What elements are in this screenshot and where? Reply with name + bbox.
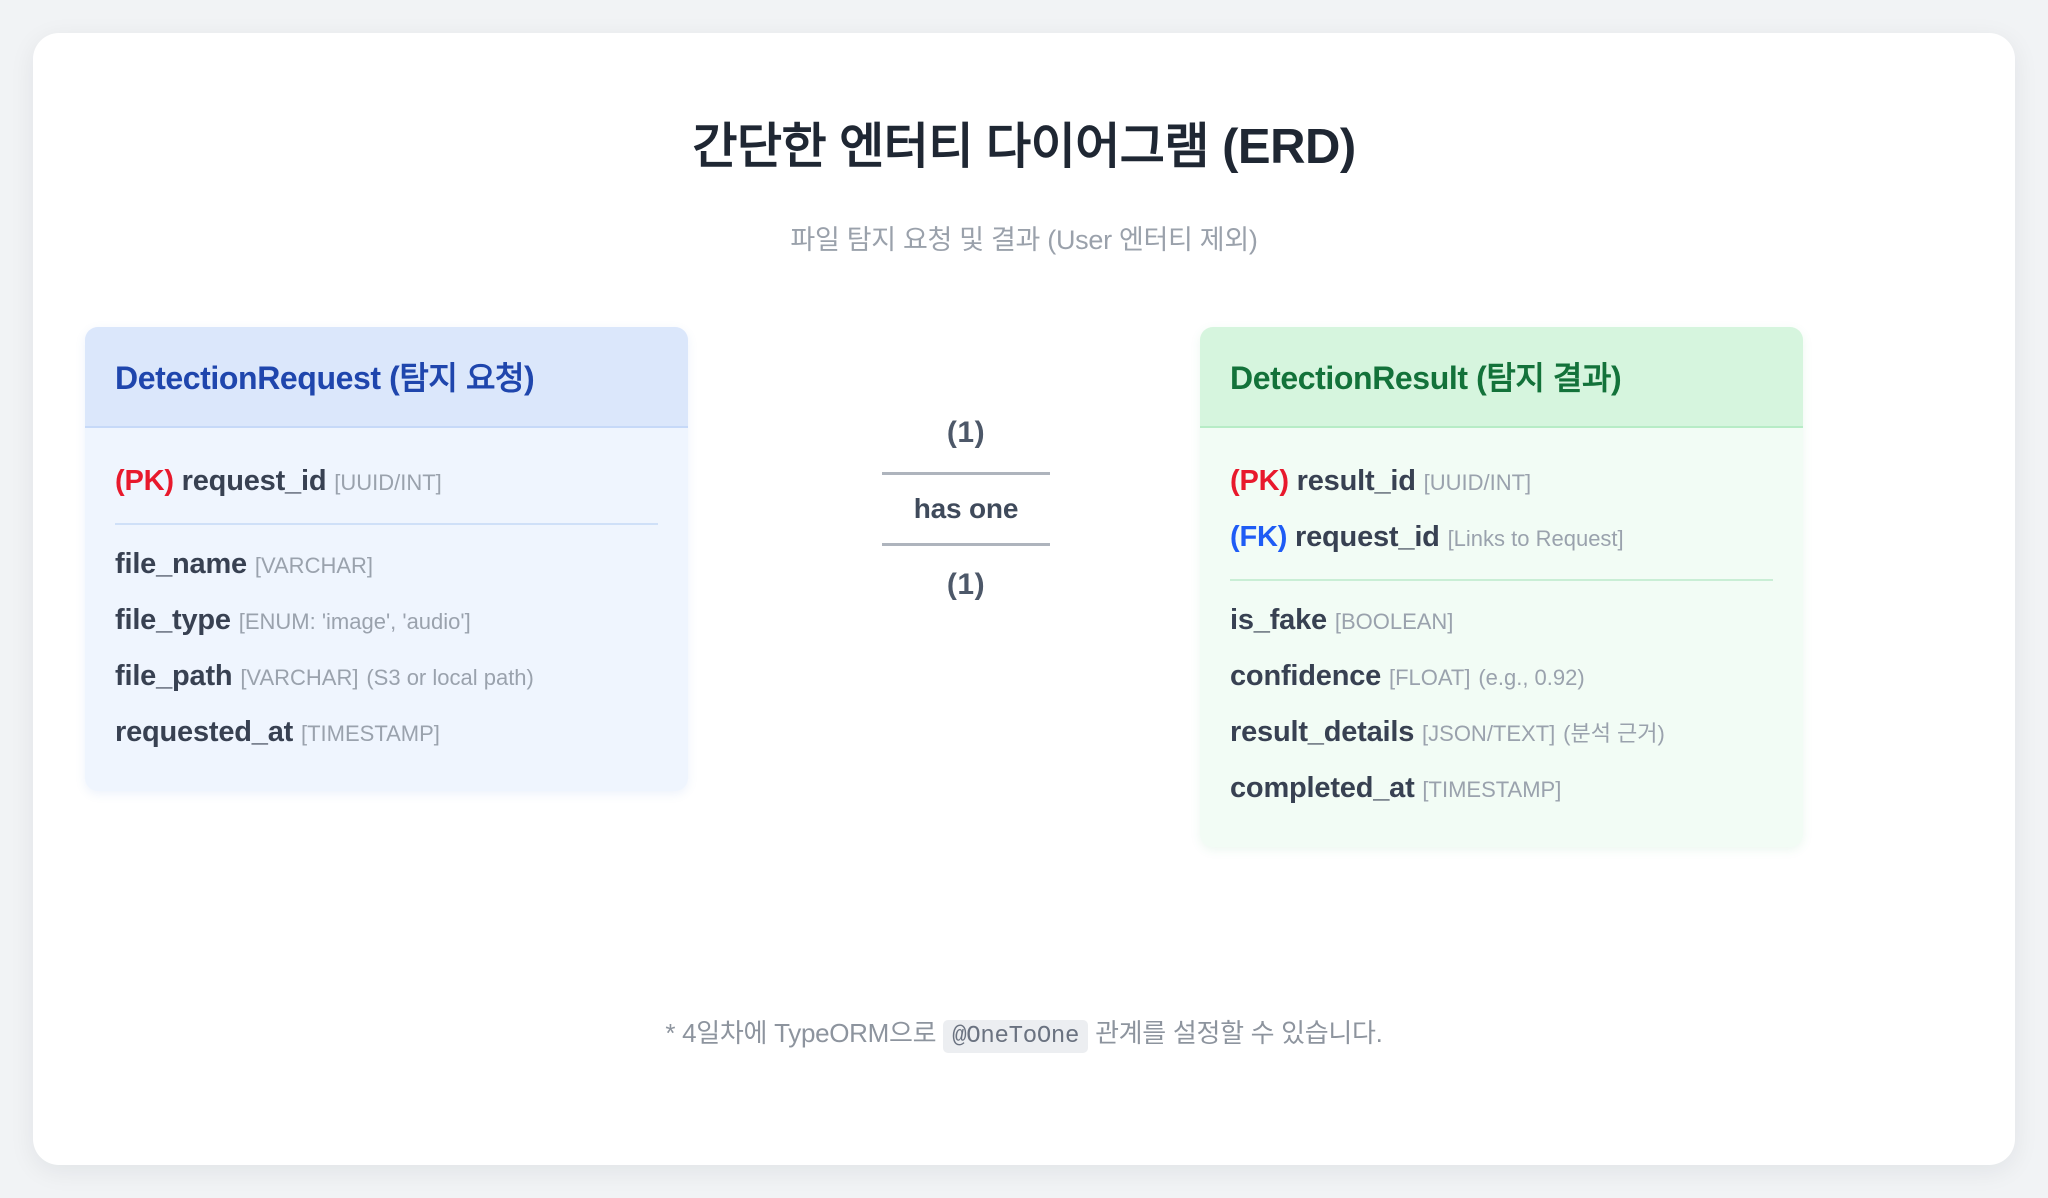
field-name: file_type bbox=[115, 604, 231, 636]
pk-badge: (PK) bbox=[1230, 465, 1289, 497]
field-row: file_name [VARCHAR] bbox=[115, 537, 658, 593]
relationship-label: has one bbox=[882, 493, 1050, 525]
entity-header-detection-request: DetectionRequest (탐지 요청) bbox=[85, 327, 688, 428]
field-name: is_fake bbox=[1230, 604, 1327, 636]
field-row: requested_at [TIMESTAMP] bbox=[115, 705, 658, 761]
entity-header-detection-result: DetectionResult (탐지 결과) bbox=[1200, 327, 1803, 428]
field-type: [BOOLEAN] bbox=[1335, 609, 1454, 634]
footnote-text-before: * 4일차에 TypeORM으로 bbox=[665, 1018, 936, 1048]
field-note: (S3 or local path) bbox=[366, 665, 534, 690]
field-name: requested_at bbox=[115, 716, 293, 748]
field-row: confidence [FLOAT] (e.g., 0.92) bbox=[1230, 649, 1773, 705]
entity-fields-detection-request: (PK) request_id [UUID/INT] file_name [VA… bbox=[85, 428, 688, 791]
field-type: [ENUM: 'image', 'audio'] bbox=[239, 609, 471, 634]
field-type: [TIMESTAMP] bbox=[301, 721, 440, 746]
field-name: request_id bbox=[182, 465, 327, 497]
pk-badge: (PK) bbox=[115, 465, 174, 497]
field-name: confidence bbox=[1230, 660, 1381, 692]
field-row: completed_at [TIMESTAMP] bbox=[1230, 761, 1773, 817]
erd-diagram: DetectionRequest (탐지 요청) (PK) request_id… bbox=[33, 327, 2015, 927]
footnote: * 4일차에 TypeORM으로 @OneToOne 관계를 설정할 수 있습니… bbox=[33, 1013, 2015, 1050]
relationship-line-top bbox=[882, 472, 1050, 475]
field-type: [UUID/INT] bbox=[1424, 470, 1532, 495]
field-name: result_id bbox=[1297, 465, 1416, 497]
field-row: (FK) request_id [Links to Request] bbox=[1230, 510, 1773, 566]
field-type: [JSON/TEXT] bbox=[1422, 721, 1555, 746]
field-divider bbox=[115, 523, 658, 525]
field-name: file_name bbox=[115, 548, 247, 580]
cardinality-left: (1) bbox=[882, 412, 1050, 454]
content-panel: 간단한 엔터티 다이어그램 (ERD) 파일 탐지 요청 및 결과 (User … bbox=[33, 33, 2015, 1165]
page-title: 간단한 엔터티 다이어그램 (ERD) bbox=[33, 107, 2015, 178]
field-type: [FLOAT] bbox=[1389, 665, 1471, 690]
field-row: (PK) result_id [UUID/INT] bbox=[1230, 454, 1773, 510]
field-row: (PK) request_id [UUID/INT] bbox=[115, 454, 658, 510]
cardinality-right: (1) bbox=[882, 564, 1050, 606]
field-type: [UUID/INT] bbox=[334, 470, 442, 495]
entity-card-detection-request[interactable]: DetectionRequest (탐지 요청) (PK) request_id… bbox=[85, 327, 688, 791]
page-root: 간단한 엔터티 다이어그램 (ERD) 파일 탐지 요청 및 결과 (User … bbox=[0, 0, 2048, 1198]
entity-fields-detection-result: (PK) result_id [UUID/INT] (FK) request_i… bbox=[1200, 428, 1803, 847]
field-row: file_path [VARCHAR] (S3 or local path) bbox=[115, 649, 658, 705]
field-type: [VARCHAR] bbox=[255, 553, 373, 578]
field-row: result_details [JSON/TEXT] (분석 근거) bbox=[1230, 705, 1773, 761]
field-row: file_type [ENUM: 'image', 'audio'] bbox=[115, 593, 658, 649]
field-row: is_fake [BOOLEAN] bbox=[1230, 593, 1773, 649]
field-name: completed_at bbox=[1230, 772, 1415, 804]
field-note: (e.g., 0.92) bbox=[1478, 665, 1584, 690]
field-type: [TIMESTAMP] bbox=[1422, 777, 1561, 802]
footnote-text-after: 관계를 설정할 수 있습니다. bbox=[1095, 1018, 1383, 1048]
field-note: (분석 근거) bbox=[1563, 721, 1665, 746]
fk-badge: (FK) bbox=[1230, 521, 1287, 553]
field-name: request_id bbox=[1295, 521, 1440, 553]
relationship-line-bottom bbox=[882, 543, 1050, 546]
field-divider bbox=[1230, 579, 1773, 581]
field-type: [VARCHAR] bbox=[240, 665, 358, 690]
relationship-connector: (1) has one (1) bbox=[882, 412, 1050, 606]
field-name: result_details bbox=[1230, 716, 1414, 748]
page-subtitle: 파일 탐지 요청 및 결과 (User 엔터티 제외) bbox=[33, 218, 2015, 257]
footnote-code-token: @OneToOne bbox=[943, 1020, 1088, 1053]
field-type: [Links to Request] bbox=[1448, 526, 1624, 551]
field-name: file_path bbox=[115, 660, 232, 692]
entity-card-detection-result[interactable]: DetectionResult (탐지 결과) (PK) result_id [… bbox=[1200, 327, 1803, 847]
